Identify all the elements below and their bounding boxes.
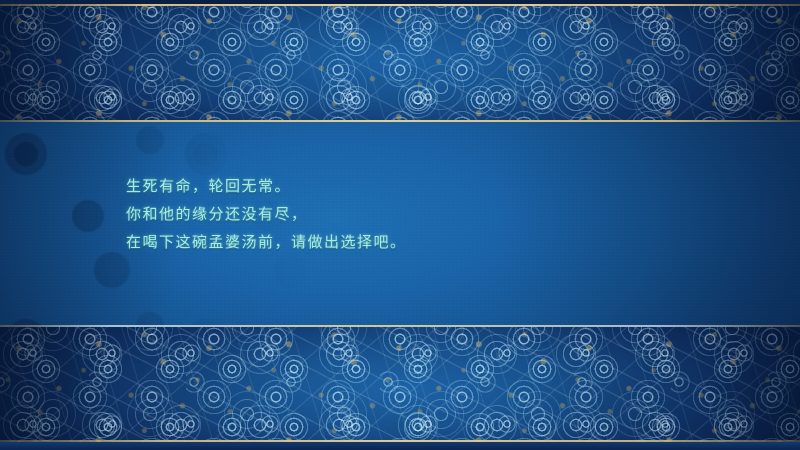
panel-top-gold-rule [0, 120, 800, 122]
top-edge-gold-rule [0, 4, 800, 6]
dialogue-text-block: 生死有命，轮回无常。 你和他的缘分还没有尽， 在喝下这碗孟婆汤前，请做出选择吧。 [126, 172, 726, 256]
bottom-ornamental-border [0, 327, 800, 450]
dialogue-line-3: 在喝下这碗孟婆汤前，请做出选择吧。 [126, 228, 726, 256]
top-band-vignette [0, 0, 800, 120]
top-ornamental-border [0, 0, 800, 120]
panel-bottom-gold-rule [0, 325, 800, 327]
visual-novel-scene: 生死有命，轮回无常。 你和他的缘分还没有尽， 在喝下这碗孟婆汤前，请做出选择吧。 [0, 0, 800, 450]
dialogue-line-2: 你和他的缘分还没有尽， [126, 200, 726, 228]
dialogue-line-1: 生死有命，轮回无常。 [126, 172, 726, 200]
bottom-band-vignette [0, 327, 800, 450]
bottom-edge-dark-strip [0, 442, 800, 450]
dialogue-panel[interactable]: 生死有命，轮回无常。 你和他的缘分还没有尽， 在喝下这碗孟婆汤前，请做出选择吧。 [0, 120, 800, 327]
